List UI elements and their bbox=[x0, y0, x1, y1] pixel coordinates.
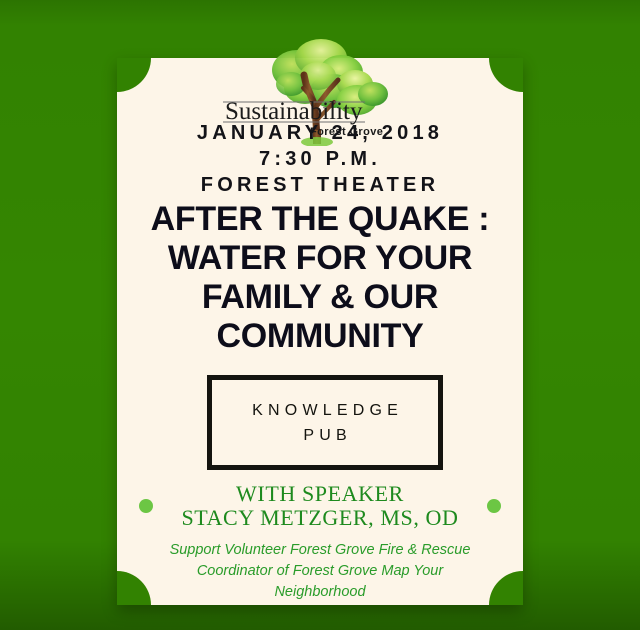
bio-line-2: Coordinator of Forest Grove Map Your bbox=[141, 561, 499, 582]
event-time: 7:30 P.M. bbox=[117, 146, 523, 172]
speaker-intro: WITH SPEAKER bbox=[181, 482, 458, 506]
speaker-row: WITH SPEAKER STACY METZGER, MS, OD bbox=[117, 482, 523, 530]
event-venue: FOREST THEATER bbox=[117, 172, 523, 198]
headline-line-3: FAMILY & OUR bbox=[117, 278, 523, 317]
speaker-name: STACY METZGER, MS, OD bbox=[181, 506, 458, 530]
bullet-dot-left bbox=[139, 499, 153, 513]
headline-line-1: AFTER THE QUAKE : bbox=[117, 200, 523, 239]
headline-line-4: COMMUNITY bbox=[117, 317, 523, 356]
page-title: AFTER THE QUAKE : WATER FOR YOUR FAMILY … bbox=[117, 200, 523, 356]
knowledge-pub-line-2: PUB bbox=[298, 423, 352, 448]
event-poster: Sustainability Forest Grove JANUARY 24, … bbox=[0, 0, 640, 630]
headline-line-2: WATER FOR YOUR bbox=[117, 239, 523, 278]
event-meta: JANUARY 24, 2018 7:30 P.M. FOREST THEATE… bbox=[117, 120, 523, 198]
bio-line-1: Support Volunteer Forest Grove Fire & Re… bbox=[141, 540, 499, 561]
bio-line-3: Neighborhood bbox=[141, 582, 499, 603]
bullet-dot-right bbox=[487, 499, 501, 513]
event-date: JANUARY 24, 2018 bbox=[117, 120, 523, 146]
speaker-info: WITH SPEAKER STACY METZGER, MS, OD bbox=[181, 482, 458, 530]
knowledge-pub-box: KNOWLEDGE PUB bbox=[207, 375, 443, 470]
poster-card: Sustainability Forest Grove JANUARY 24, … bbox=[117, 58, 523, 605]
speaker-bio: Support Volunteer Forest Grove Fire & Re… bbox=[141, 540, 499, 603]
knowledge-pub-line-1: KNOWLEDGE bbox=[247, 398, 403, 423]
